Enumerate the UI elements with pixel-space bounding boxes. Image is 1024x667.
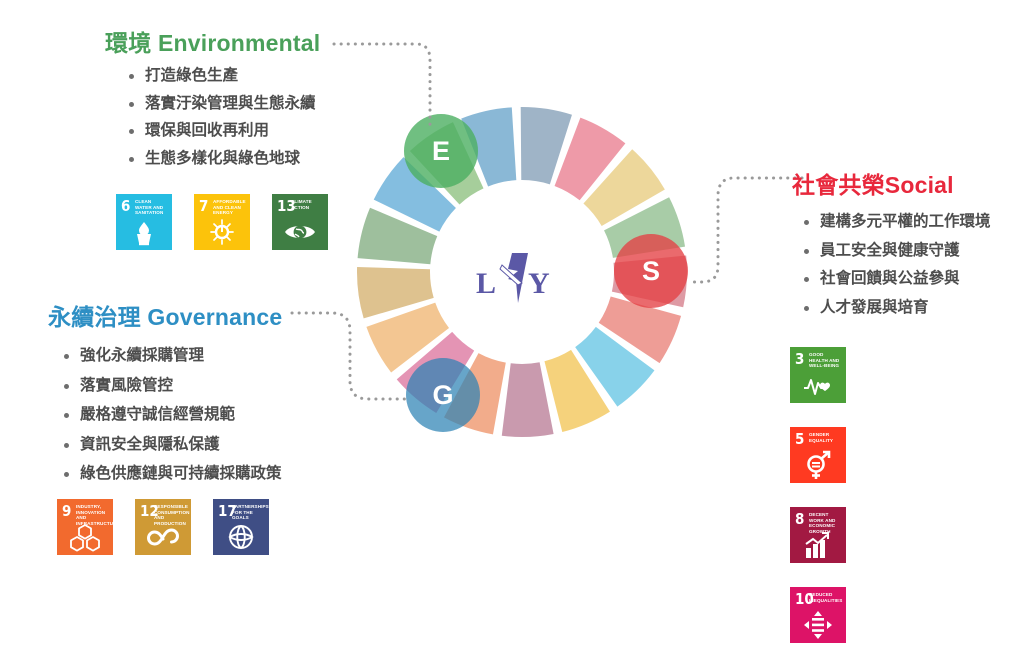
infographic-canvas: L Y E S G 環境 Environmental 打造綠色生產 落實汙染管理… [0, 0, 1024, 575]
sdg-tile-5[interactable]: 5 Gender Equality [790, 427, 846, 483]
list-item: 打造綠色生產 [125, 68, 405, 84]
eye-earth-icon [272, 217, 328, 247]
sun-power-icon [194, 217, 250, 247]
panel-title-environmental: 環境 Environmental [105, 24, 405, 58]
sdg-number: 5 [795, 432, 804, 447]
list-item: 生態多樣化與綠色地球 [125, 151, 405, 167]
gender-equality-icon [790, 450, 846, 480]
heartbeat-icon [790, 370, 846, 400]
sdg-label: Affordable and Clean Energy [213, 199, 247, 216]
infinity-icon [135, 522, 191, 552]
list-item: 環保與回收再利用 [125, 123, 405, 139]
sdg-tile-12[interactable]: 12 Responsible Consumption and Productio… [135, 499, 191, 555]
list-item: 員工安全與健康守護 [800, 243, 1022, 259]
pillar-badge-letter: E [432, 136, 450, 167]
list-item: 資訊安全與隱私保護 [60, 437, 378, 453]
sdg-label: Good Health and Well-Being [809, 352, 843, 369]
list-item: 強化永續採購管理 [60, 348, 378, 364]
sdg-label: Gender Equality [809, 432, 843, 443]
sdg-tile-13[interactable]: 13 Climate Action [272, 194, 328, 250]
sdg-label: Partnerships for the Goals [232, 504, 266, 521]
sdg-icon-grid-social: 3 Good Health and Well-Being 5 Gender Eq… [790, 347, 930, 667]
list-item: 嚴格遵守誠信經營規範 [60, 407, 378, 423]
bullet-list-social: 建構多元平權的工作環境 員工安全與健康守護 社會回饋與公益參與 人才發展與培育 [800, 214, 1022, 315]
list-item: 人才發展與培育 [800, 300, 1022, 316]
sdg-tile-9[interactable]: 9 Industry, Innovation and Infrastructur… [57, 499, 113, 555]
panel-title-governance: 永續治理 Governance [48, 298, 378, 332]
sdg-label: Reduced Inequalities [809, 592, 843, 603]
sdg-tile-8[interactable]: 8 Decent Work and Economic Growth [790, 507, 846, 563]
svg-text:L: L [476, 267, 496, 300]
list-item: 落實風險管控 [60, 378, 378, 394]
water-glass-icon [116, 217, 172, 247]
sdg-tile-7[interactable]: 7 Affordable and Clean Energy [194, 194, 250, 250]
sdg-tile-10[interactable]: 10 Reduced Inequalities [790, 587, 846, 643]
svg-text:Y: Y [528, 267, 550, 300]
sdg-number: 3 [795, 352, 804, 367]
list-item: 落實汙染管理與生態永續 [125, 96, 405, 112]
list-item: 社會回饋與公益參與 [800, 271, 1022, 287]
equals-arrows-icon [790, 610, 846, 640]
sdg-tile-17[interactable]: 17 Partnerships for the Goals [213, 499, 269, 555]
panel-governance: 永續治理 Governance 強化永續採購管理 落實風險管控 嚴格遵守誠信經營… [48, 298, 378, 496]
partnership-circles-icon [213, 522, 269, 552]
growth-chart-icon [790, 530, 846, 560]
sdg-icon-row-governance: 9 Industry, Innovation and Infrastructur… [57, 499, 291, 555]
wheel-segment [502, 362, 554, 437]
sdg-icon-row-environmental: 6 Clean Water and Sanitation 7 Affordabl… [116, 194, 350, 250]
bullet-list-governance: 強化永續採購管理 落實風險管控 嚴格遵守誠信經營規範 資訊安全與隱私保護 綠色供… [60, 348, 378, 482]
sdg-number: 9 [62, 504, 71, 519]
bullet-list-environmental: 打造綠色生產 落實汙染管理與生態永續 環保與回收再利用 生態多樣化與綠色地球 [125, 68, 405, 166]
panel-environmental: 環境 Environmental 打造綠色生產 落實汙染管理與生態永續 環保與回… [105, 24, 405, 178]
sdg-label: Clean Water and Sanitation [135, 199, 169, 216]
pillar-badge-letter: S [642, 256, 660, 287]
sdg-label: Climate Action [291, 199, 325, 210]
sdg-number: 8 [795, 512, 804, 527]
company-logo: L Y [470, 245, 565, 307]
list-item: 建構多元平權的工作環境 [800, 214, 1022, 230]
sdg-tile-6[interactable]: 6 Clean Water and Sanitation [116, 194, 172, 250]
panel-social: 社會共榮Social 建構多元平權的工作環境 員工安全與健康守護 社會回饋與公益… [792, 166, 1022, 328]
panel-title-social: 社會共榮Social [792, 166, 1022, 200]
sdg-number: 7 [199, 199, 208, 214]
pillar-badge-letter: G [432, 380, 453, 411]
list-item: 綠色供應鏈與可持續採購政策 [60, 466, 378, 482]
sdg-number: 6 [121, 199, 130, 214]
cubes-icon [57, 522, 113, 552]
sdg-tile-3[interactable]: 3 Good Health and Well-Being [790, 347, 846, 403]
pillar-badge-social[interactable]: S [614, 234, 688, 308]
